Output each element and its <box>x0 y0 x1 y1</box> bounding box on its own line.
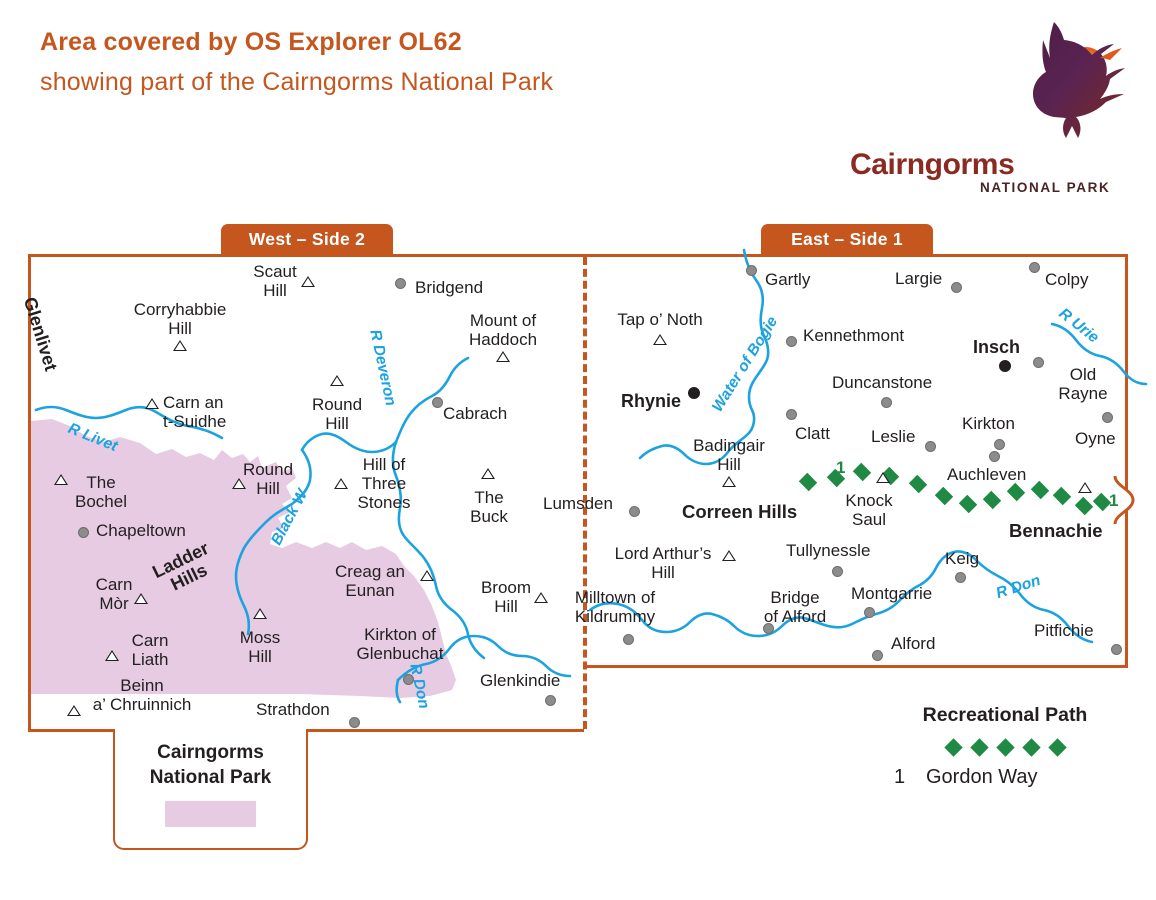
settlement-label-gartly: Gartly <box>765 270 810 289</box>
logo-wordmark: Cairngorms <box>850 148 1014 182</box>
summit-marker-moss-hill <box>253 608 267 619</box>
page-title: Area covered by OS Explorer OL62 <box>40 28 462 57</box>
diamond-icon <box>944 738 962 756</box>
summit-label-bennachie: Bennachie <box>1009 521 1103 540</box>
summit-marker-lord-arthurs-hill <box>722 550 736 561</box>
legend-entry-label: Gordon Way <box>926 766 1038 789</box>
summit-marker-mount-of-haddoch <box>496 351 510 362</box>
settlement-dot-rhynie <box>688 387 700 399</box>
summit-label-broom-hill: Broom Hill <box>481 578 531 616</box>
legend-entry-number: 1 <box>894 766 905 789</box>
summit-label-mount-of-haddoch: Mount of Haddoch <box>469 311 537 349</box>
settlement-label-montgarrie: Montgarrie <box>851 584 932 603</box>
settlement-label-lumsden: Lumsden <box>543 494 613 513</box>
summit-label-moss-hill: Moss Hill <box>240 628 281 666</box>
diamond-icon <box>996 738 1014 756</box>
summit-label-creag-an-eunan: Creag an Eunan <box>335 562 405 600</box>
tab-east-side-1[interactable]: East – Side 1 <box>761 224 933 255</box>
settlement-dot-leslie <box>925 441 936 452</box>
settlement-dot-bridgend <box>395 278 406 289</box>
settlement-label-milltown-of-kildrummy: Milltown of Kildrummy <box>575 588 655 626</box>
settlement-dot-duncanstone <box>881 397 892 408</box>
settlement-label-kennethmont: Kennethmont <box>803 326 904 345</box>
settlement-label-cabrach: Cabrach <box>443 404 507 423</box>
path-number-1-west: 1 <box>836 458 845 478</box>
settlement-dot-montgarrie <box>864 607 875 618</box>
settlement-label-keig: Keig <box>945 549 979 568</box>
summit-label-scaut-hill: Scaut Hill <box>253 262 296 300</box>
map-legend: Recreational Path 1 Gordon Way <box>880 695 1130 805</box>
diamond-icon <box>1048 738 1066 756</box>
panel-divider-dashed <box>583 257 587 729</box>
settlement-dot-glenkindie <box>545 695 556 706</box>
summit-marker-scaut-hill <box>301 276 315 287</box>
summit-marker-carn-liath <box>105 650 119 661</box>
key-title-line1: Cairngorms <box>115 742 306 764</box>
summit-marker-beinn-a-chruinnich <box>67 705 81 716</box>
key-title-line2: National Park <box>115 767 306 789</box>
summit-marker-corryhabbie-hill <box>173 340 187 351</box>
summit-marker-hill-of-three-stones <box>334 478 348 489</box>
area-label-correen-hills: Correen Hills <box>682 502 797 521</box>
summit-label-knock-saul: Knock Saul <box>845 491 892 529</box>
settlement-label-duncanstone: Duncanstone <box>832 373 932 392</box>
settlement-label-rhynie: Rhynie <box>621 392 681 411</box>
summit-label-round-hill-mid: Round Hill <box>243 460 293 498</box>
summit-label-carn-an-t-suidhe: Carn an t-Suidhe <box>163 393 226 431</box>
summit-label-lord-arthurs-hill: Lord Arthur’s Hill <box>615 544 712 582</box>
cairngorms-national-park-logo: Cairngorms NATIONAL PARK <box>836 14 1136 194</box>
summit-label-carn-liath: Carn Liath <box>132 631 169 669</box>
summit-marker-carn-mor <box>134 593 148 604</box>
settlement-label-clatt: Clatt <box>795 424 830 443</box>
summit-marker-the-buck <box>481 468 495 479</box>
path-number-1-east: 1 <box>1109 491 1118 511</box>
settlement-label-auchleven: Auchleven <box>947 465 1026 484</box>
summit-label-badingair-hill: Badingair Hill <box>693 436 765 474</box>
logo-subtitle: NATIONAL PARK <box>980 180 1110 195</box>
summit-marker-broom-hill <box>534 592 548 603</box>
map-container: West – Side 2 East – Side 1 <box>0 210 1156 900</box>
settlement-label-bridge-of-alford: Bridge of Alford <box>764 588 826 626</box>
settlement-label-bridgend: Bridgend <box>415 278 483 297</box>
summit-label-round-hill-north: Round Hill <box>312 395 362 433</box>
settlement-dot-auchleven <box>989 451 1000 462</box>
diamond-icon <box>970 738 988 756</box>
summit-label-the-bochel: The Bochel <box>75 473 127 511</box>
settlement-dot-milltown-of-kildrummy <box>623 634 634 645</box>
settlement-label-insch: Insch <box>973 338 1020 357</box>
summit-marker-knock-saul <box>876 472 890 483</box>
national-park-key-box: Cairngorms National Park <box>113 729 308 850</box>
legend-title: Recreational Path <box>880 704 1130 727</box>
legend-path-symbol <box>880 737 1130 757</box>
key-color-swatch <box>165 801 256 827</box>
settlement-label-strathdon: Strathdon <box>256 700 330 719</box>
settlement-dot-keig <box>955 572 966 583</box>
summit-marker-tap-o-noth <box>653 334 667 345</box>
summit-label-carn-mor: Carn Mòr <box>96 575 133 613</box>
settlement-dot-alford <box>872 650 883 661</box>
settlement-label-old-rayne: Old Rayne <box>1058 365 1107 403</box>
settlement-dot-old-rayne <box>1033 357 1044 368</box>
settlement-dot-strathdon <box>349 717 360 728</box>
eagle-sun-icon <box>1006 14 1136 144</box>
summit-label-beinn-a-chruinnich: Beinn a’ Chruinnich <box>93 676 192 714</box>
summit-marker-round-hill-mid <box>232 478 246 489</box>
settlement-dot-tullynessle <box>832 566 843 577</box>
settlement-dot-clatt <box>786 409 797 420</box>
summit-marker-bennachie <box>1078 482 1092 493</box>
summit-label-the-buck: The Buck <box>470 488 508 526</box>
summit-marker-the-bochel <box>54 474 68 485</box>
settlement-label-largie: Largie <box>895 269 942 288</box>
settlement-dot-largie <box>951 282 962 293</box>
settlement-label-pitfichie: Pitfichie <box>1034 621 1094 640</box>
settlement-label-colpy: Colpy <box>1045 270 1088 289</box>
settlement-label-leslie: Leslie <box>871 427 915 446</box>
settlement-label-alford: Alford <box>891 634 935 653</box>
settlement-label-glenkindie: Glenkindie <box>480 671 560 690</box>
summit-marker-carn-an-t-suidhe <box>145 398 159 409</box>
settlement-dot-bridge-of-alford <box>763 623 774 634</box>
summit-label-tap-o-noth: Tap o’ Noth <box>617 310 702 329</box>
settlement-label-tullynessle: Tullynessle <box>786 541 870 560</box>
settlement-dot-pitfichie <box>1111 644 1122 655</box>
page-subtitle: showing part of the Cairngorms National … <box>40 68 553 97</box>
tab-west-side-2[interactable]: West – Side 2 <box>221 224 393 255</box>
settlement-label-chapeltown: Chapeltown <box>96 521 186 540</box>
settlement-label-kirkton-of-glenbuchat: Kirkton of Glenbuchat <box>357 625 444 663</box>
summit-marker-badingair-hill <box>722 476 736 487</box>
page-header: Area covered by OS Explorer OL62 showing… <box>0 0 1156 210</box>
settlement-dot-insch <box>999 360 1011 372</box>
settlement-dot-kennethmont <box>786 336 797 347</box>
settlement-dot-lumsden <box>629 506 640 517</box>
summit-marker-creag-an-eunan <box>420 570 434 581</box>
settlement-label-oyne: Oyne <box>1075 429 1116 448</box>
settlement-label-kirkton: Kirkton <box>962 414 1015 433</box>
settlement-dot-gartly <box>746 265 757 276</box>
settlement-dot-kirkton <box>994 439 1005 450</box>
settlement-dot-oyne <box>1102 412 1113 423</box>
summit-label-hill-of-three-stones: Hill of Three Stones <box>358 455 411 512</box>
settlement-dot-chapeltown <box>78 527 89 538</box>
summit-marker-round-hill-north <box>330 375 344 386</box>
diamond-icon <box>1022 738 1040 756</box>
settlement-dot-colpy <box>1029 262 1040 273</box>
summit-label-corryhabbie-hill: Corryhabbie Hill <box>134 300 227 338</box>
settlement-dot-cabrach <box>432 397 443 408</box>
